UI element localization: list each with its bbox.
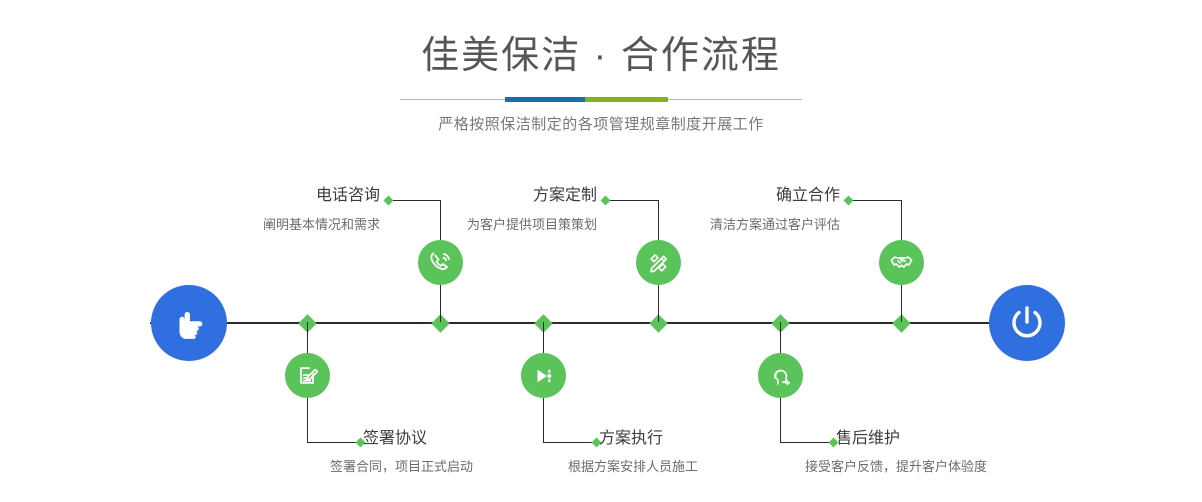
- timeline-end-marker: [989, 285, 1065, 361]
- label-marker-step-3: [601, 196, 611, 206]
- connector-horizontal-step-6: [780, 442, 833, 443]
- page-title: 佳美保洁 · 合作流程: [0, 0, 1202, 78]
- label-marker-step-5: [844, 196, 854, 206]
- connector-horizontal-step-5: [848, 200, 902, 201]
- timeline-start-marker: [151, 285, 227, 361]
- title-divider: [400, 97, 802, 102]
- divider-segment-blue: [505, 97, 585, 102]
- support-agent-icon: [768, 363, 794, 389]
- step-title-step-1: 电话咨询: [205, 188, 380, 204]
- page-subtitle: 严格按照保洁制定的各项管理规章制度开展工作: [0, 102, 1202, 134]
- pencil-ruler-icon: [646, 250, 672, 276]
- timeline-axis: [150, 322, 1052, 324]
- step-icon-step-1[interactable]: [418, 240, 463, 285]
- step-subtitle-step-3: 为客户提供项目策策划: [325, 218, 597, 231]
- play-execute-icon: [531, 363, 557, 389]
- phone-call-icon: [427, 249, 454, 276]
- step-icon-step-4[interactable]: [521, 353, 566, 398]
- step-title-step-4: 方案执行: [599, 431, 663, 447]
- step-subtitle-step-5: 清洁方案通过客户评估: [565, 218, 840, 231]
- handshake-icon: [888, 249, 915, 276]
- step-title-step-6: 售后维护: [836, 431, 900, 447]
- connector-horizontal-step-2: [307, 442, 360, 443]
- step-title-step-5: 确立合作: [665, 188, 840, 204]
- flowchart-page: 佳美保洁 · 合作流程 严格按照保洁制定的各项管理规章制度开展工作: [0, 0, 1202, 502]
- process-timeline: 电话咨询 阐明基本情况和需求: [0, 150, 1202, 502]
- connector-horizontal-step-4: [543, 442, 596, 443]
- step-title-step-2: 签署协议: [363, 431, 427, 447]
- step-subtitle-step-4: 根据方案安排人员施工: [568, 460, 698, 473]
- label-marker-step-1: [384, 196, 394, 206]
- step-icon-step-6[interactable]: [758, 353, 803, 398]
- page-header: 佳美保洁 · 合作流程 严格按照保洁制定的各项管理规章制度开展工作: [0, 0, 1202, 134]
- step-icon-step-5[interactable]: [879, 240, 924, 285]
- step-icon-step-2[interactable]: [285, 353, 330, 398]
- step-title-step-3: 方案定制: [425, 188, 597, 204]
- step-icon-step-3[interactable]: [636, 240, 681, 285]
- step-subtitle-step-2: 签署合同，项目正式启动: [330, 460, 473, 473]
- connector-horizontal-step-3: [605, 200, 659, 201]
- pointing-hand-icon: [167, 301, 211, 345]
- step-subtitle-step-6: 接受客户反馈，提升客户体验度: [805, 460, 987, 473]
- document-edit-icon: [295, 363, 321, 389]
- divider-segment-green: [585, 97, 668, 102]
- power-icon: [1004, 300, 1050, 346]
